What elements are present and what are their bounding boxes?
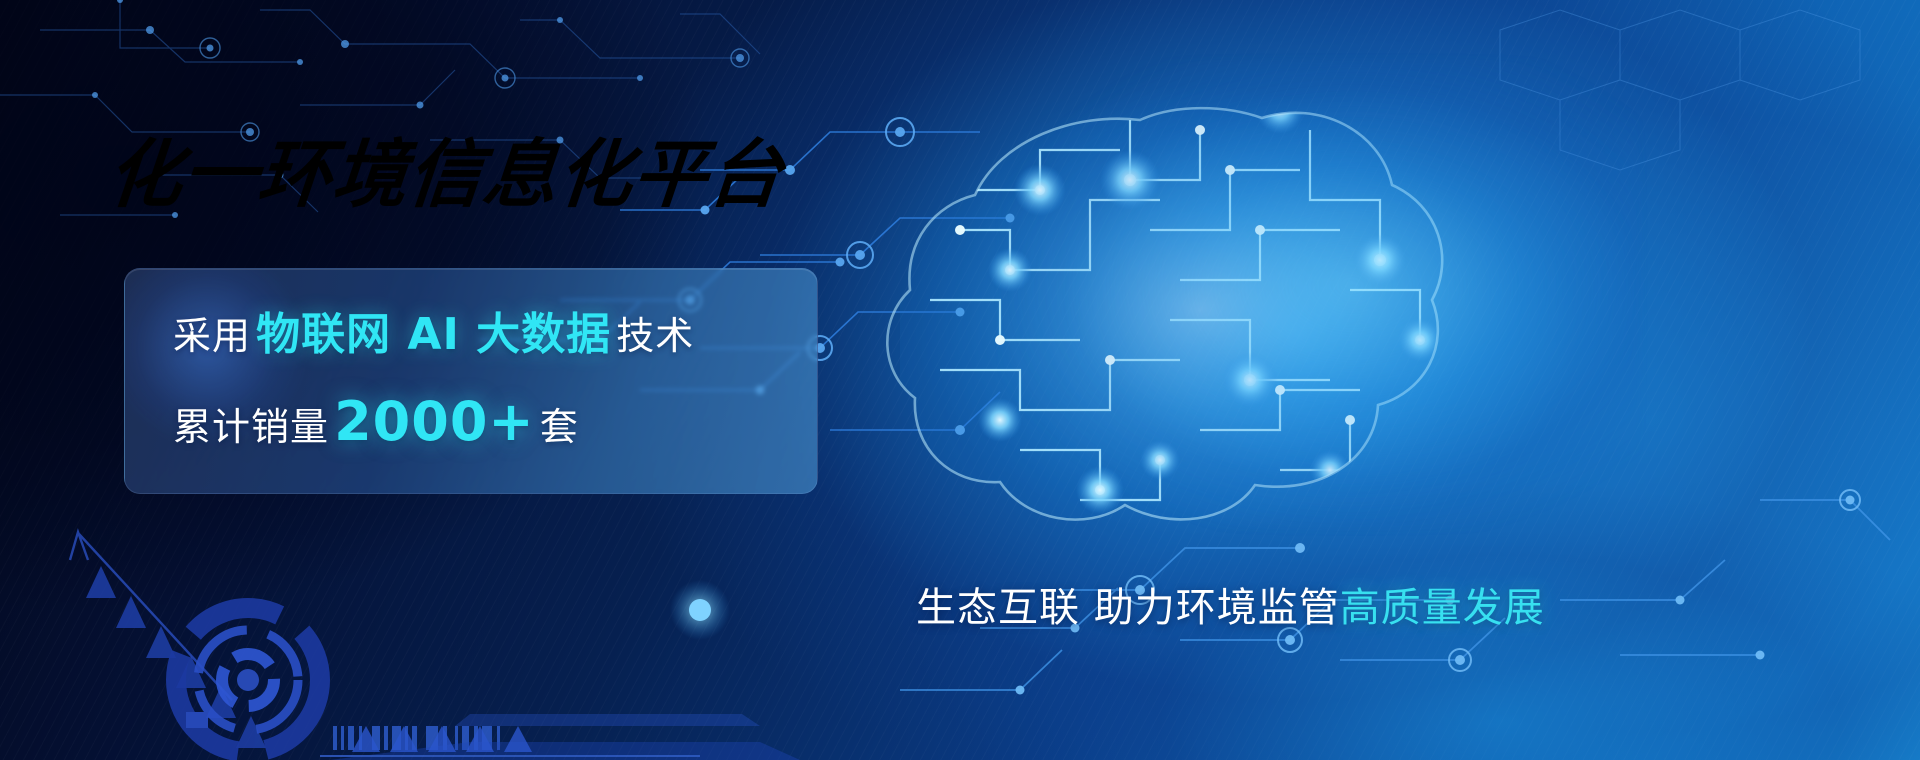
tagline-white-part: 生态互联 助力环境监管 xyxy=(916,585,1340,631)
sales-unit-label: 套 xyxy=(540,405,579,449)
feature-line-technology: 采用 物联网 AI 大数据 技术 xyxy=(173,313,789,357)
title-white-part: 化一环境 xyxy=(105,138,411,212)
banner-tagline: 生态互联 助力环境监管高质量发展 xyxy=(916,588,1545,628)
tech-highlight-label: 物联网 AI 大数据 xyxy=(256,309,611,360)
tech-suffix-label: 技术 xyxy=(616,314,694,358)
title-orange-part: 信息化平台 xyxy=(405,138,786,212)
feature-card: 采用 物联网 AI 大数据 技术 累计销量 2000+ 套 xyxy=(124,268,818,494)
banner-title: 化一环境信息化平台 xyxy=(108,138,783,212)
sales-count-value: 2000+ xyxy=(334,390,535,453)
feature-card-lines: 采用 物联网 AI 大数据 技术 累计销量 2000+ 套 xyxy=(173,313,789,449)
feature-line-sales: 累计销量 2000+ 套 xyxy=(173,395,789,449)
brain-halo-glow xyxy=(1000,60,1640,530)
accent-node-below-card xyxy=(670,580,730,640)
sales-prefix-label: 累计销量 xyxy=(173,405,329,449)
tech-prefix-label: 采用 xyxy=(173,314,251,358)
hero-banner: 化一环境信息化平台 采用 物联网 AI 大数据 技术 累计销量 2000+ 套 … xyxy=(0,0,1920,760)
tagline-cyan-part: 高质量发展 xyxy=(1340,585,1545,631)
